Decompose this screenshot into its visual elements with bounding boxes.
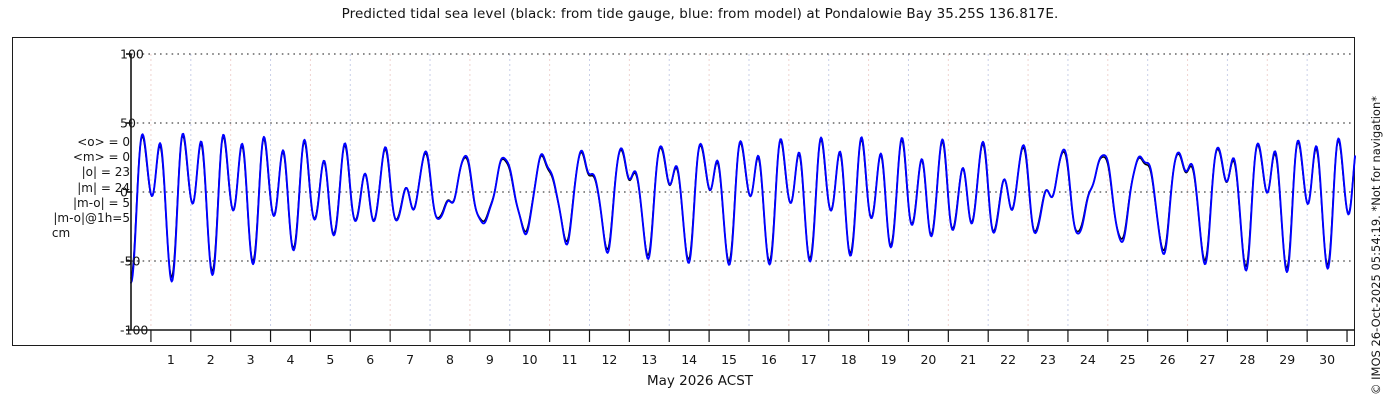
- x-tick-label: 10: [522, 352, 538, 367]
- x-tick-label: 3: [247, 352, 255, 367]
- y-tick-label: 100: [120, 47, 144, 62]
- y-tick-label: -100: [120, 323, 148, 338]
- x-tick-label: 9: [486, 352, 494, 367]
- copyright-notice: © IMOS 26-Oct-2025 05:54:19. *Not for na…: [1376, 0, 1400, 400]
- series-model: [131, 134, 1355, 283]
- x-tick-label: 30: [1319, 352, 1335, 367]
- x-tick-label: 4: [286, 352, 294, 367]
- y-tick-label: 0: [120, 185, 128, 200]
- x-tick-label: 6: [366, 352, 374, 367]
- x-axis-title: May 2026 ACST: [0, 373, 1400, 389]
- y-tick-label: 50: [120, 116, 136, 131]
- x-tick-label: 16: [761, 352, 777, 367]
- x-tick-label: 1: [167, 352, 175, 367]
- x-tick-label: 12: [601, 352, 617, 367]
- x-tick-label: 26: [1160, 352, 1176, 367]
- x-tick-label: 20: [920, 352, 936, 367]
- x-tick-label: 18: [841, 352, 857, 367]
- x-tick-label: 11: [562, 352, 578, 367]
- x-tick-label: 5: [326, 352, 334, 367]
- x-tick-label: 15: [721, 352, 737, 367]
- x-tick-label: 19: [881, 352, 897, 367]
- x-tick-label: 27: [1200, 352, 1216, 367]
- y-tick-label: -50: [120, 254, 140, 269]
- tide-timeseries-plot: [0, 0, 1400, 400]
- series-observed: [131, 136, 1355, 278]
- x-tick-label: 23: [1040, 352, 1056, 367]
- x-tick-label: 28: [1239, 352, 1255, 367]
- x-tick-label: 22: [1000, 352, 1016, 367]
- x-tick-label: 24: [1080, 352, 1096, 367]
- x-tick-label: 25: [1120, 352, 1136, 367]
- x-tick-label: 21: [960, 352, 976, 367]
- x-tick-label: 2: [207, 352, 215, 367]
- data-series-group: [131, 134, 1355, 283]
- x-tick-label: 17: [801, 352, 817, 367]
- x-tick-label: 7: [406, 352, 414, 367]
- x-tick-label: 8: [446, 352, 454, 367]
- x-tick-label: 13: [641, 352, 657, 367]
- x-tick-label: 14: [681, 352, 697, 367]
- copyright-text: © IMOS 26-Oct-2025 05:54:19. *Not for na…: [1369, 95, 1383, 395]
- x-tick-label: 29: [1279, 352, 1295, 367]
